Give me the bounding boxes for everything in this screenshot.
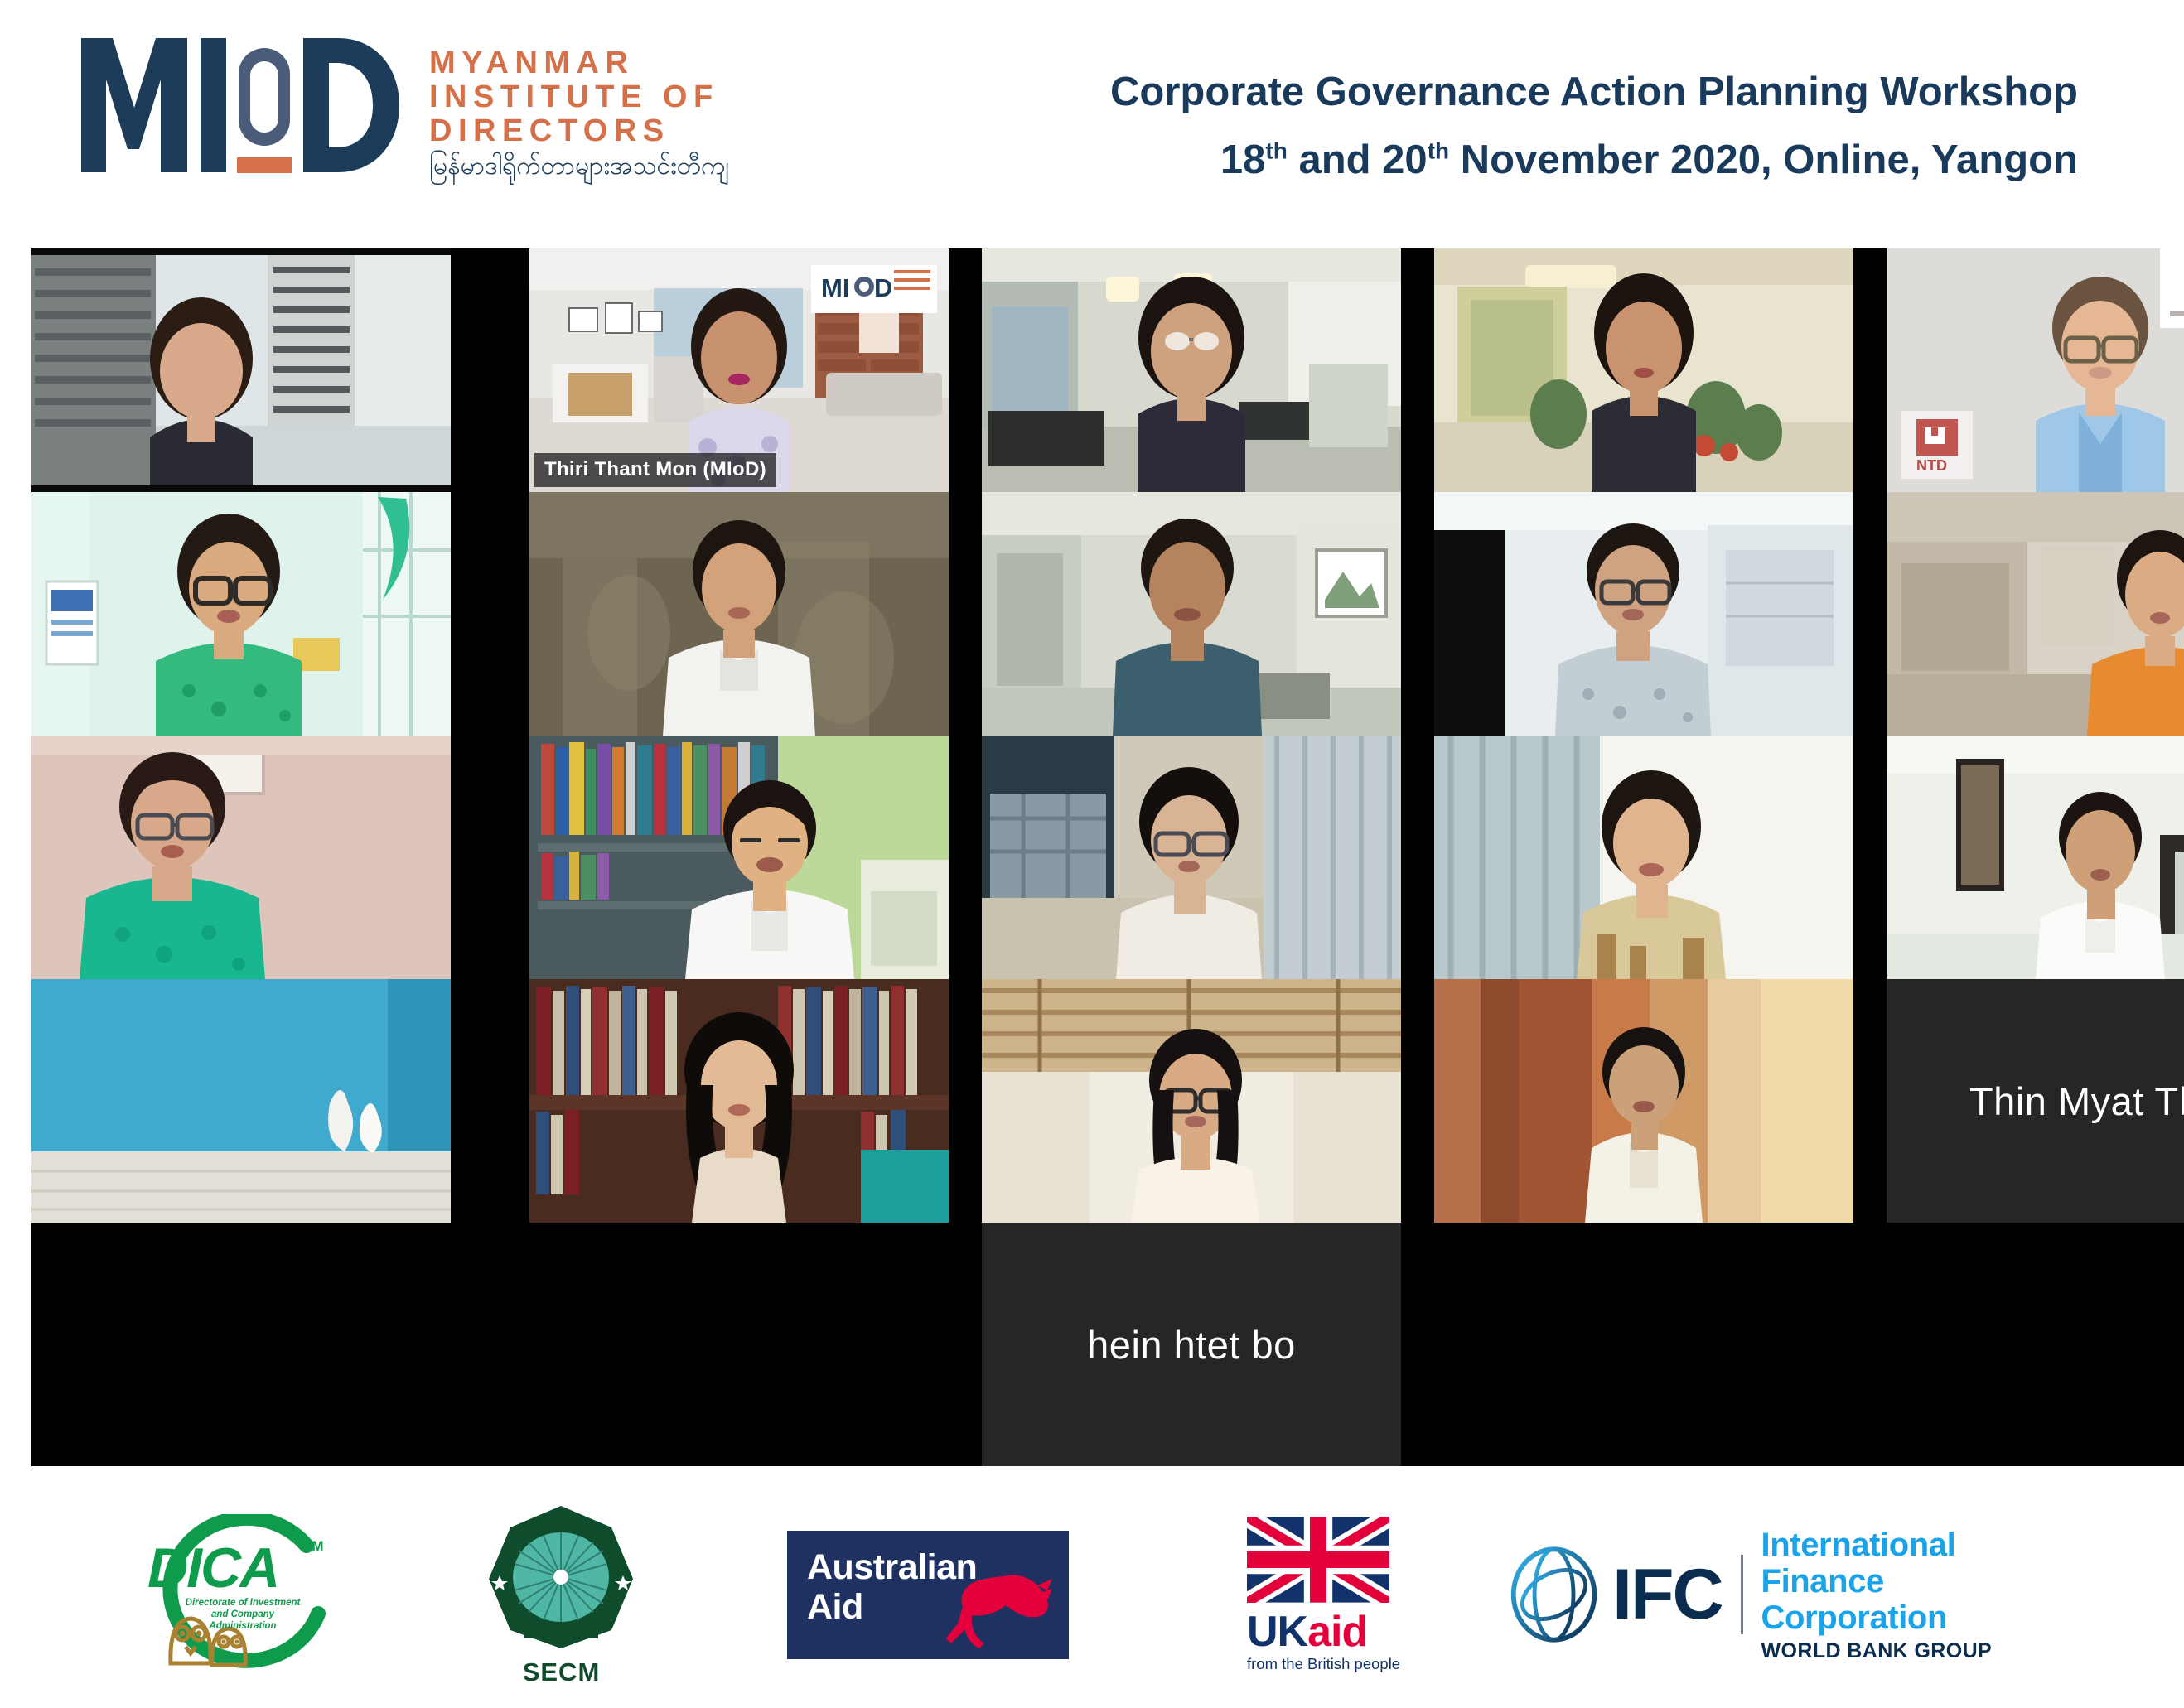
video-frame-image — [1434, 979, 1853, 1223]
workshop-date-line: 18th and 20th November 2020, Online, Yan… — [1110, 133, 2078, 187]
gallery-row-4: Thin Myat Thu — [31, 979, 2146, 1223]
miod-org-burmese: မြန်မာဒါရိုက်တာများအသင်းတီကျ — [429, 151, 729, 182]
video-frame-image — [982, 248, 1401, 492]
participant-tile[interactable] — [31, 492, 451, 736]
video-frame-image — [982, 979, 1401, 1223]
video-feed: NTD NTD — [1887, 248, 2184, 492]
participant-tile[interactable] — [31, 248, 451, 492]
ifc-globe-icon — [1504, 1543, 1604, 1646]
video-frame-image — [31, 979, 451, 1223]
uk-aid-aid: aid — [1307, 1608, 1367, 1656]
video-frame-image — [982, 492, 1401, 736]
miod-logo: MYANMAR INSTITUTE OF DIRECTORS မြန်မာဒါရ… — [75, 31, 729, 185]
gallery-row-5: hein htet bo — [31, 1223, 2146, 1466]
union-jack-icon — [1247, 1517, 1389, 1603]
date-conjunction: and 20 — [1288, 138, 1428, 182]
workshop-title-block: Corporate Governance Action Planning Wor… — [1110, 65, 2078, 187]
dica-logo-icon: DICA TM — [133, 1514, 340, 1672]
uk-aid-tagline: from the British people — [1247, 1655, 1392, 1673]
uk-aid-uk: UK — [1247, 1608, 1307, 1656]
dica-logo: DICA TM Directorate of Investment and Co… — [133, 1514, 340, 1676]
video-feed — [1434, 492, 1853, 736]
ifc-divider — [1741, 1555, 1743, 1634]
miod-logo-text: MYANMAR INSTITUTE OF DIRECTORS မြန်မာဒါရ… — [429, 31, 729, 182]
video-frame-image — [1434, 248, 1853, 492]
uk-aid-logo: UKaid from the British people — [1247, 1517, 1392, 1673]
ifc-name-line-1: International — [1761, 1527, 2071, 1563]
kangaroo-icon — [926, 1564, 1059, 1652]
no-video-placeholder: Thin Myat Thu — [1887, 979, 2184, 1223]
participant-name-label: Thiri Thant Mon (MIoD) — [534, 453, 776, 487]
video-frame-image — [1887, 492, 2184, 736]
svg-text:DICA: DICA — [147, 1537, 278, 1599]
participant-tile[interactable] — [982, 979, 1401, 1223]
date-sup-2: th — [1428, 138, 1449, 164]
video-feed — [1434, 979, 1853, 1223]
no-video-placeholder: hein htet bo — [982, 1223, 1401, 1466]
miod-logo-mark — [75, 31, 406, 185]
uk-aid-wordmark: UKaid — [1247, 1610, 1392, 1653]
participant-tile[interactable] — [31, 736, 451, 979]
participant-display-name: hein htet bo — [1087, 1322, 1296, 1368]
svg-text:NTD: NTD — [1916, 457, 1947, 474]
secm-label: SECM — [472, 1657, 650, 1687]
participant-tile[interactable] — [529, 979, 949, 1223]
miod-org-line-1: MYANMAR — [429, 46, 729, 80]
video-feed — [1434, 736, 1853, 979]
video-feed — [982, 979, 1401, 1223]
secm-seal-icon — [472, 1503, 650, 1652]
participant-tile[interactable] — [982, 736, 1401, 979]
miod-wordmark-icon — [75, 31, 406, 185]
date-month-year-location: November 2020, Online, Yangon — [1449, 138, 2078, 182]
ifc-logo: IFC International Finance Corporation WO… — [1504, 1527, 2071, 1663]
australian-aid-logo: Australian Aid — [787, 1531, 1069, 1659]
video-frame-image — [31, 248, 451, 492]
slide-root: MYANMAR INSTITUTE OF DIRECTORS မြန်မာဒါရ… — [0, 0, 2184, 1708]
video-feed — [31, 979, 451, 1223]
participant-tile-no-video[interactable]: Thin Myat Thu — [1887, 979, 2184, 1223]
participant-tile[interactable] — [982, 248, 1401, 492]
video-feed — [31, 492, 451, 736]
dica-tagline: Directorate of Investment and Company Ad… — [181, 1597, 305, 1632]
video-feed — [1887, 736, 2184, 979]
svg-text:TM: TM — [303, 1538, 324, 1554]
video-feed — [982, 492, 1401, 736]
video-frame-image — [529, 736, 949, 979]
video-frame-image — [1434, 492, 1853, 736]
video-feed — [1434, 248, 1853, 492]
gallery-row-3 — [31, 736, 2146, 979]
gallery-row-2 — [31, 492, 2146, 736]
video-feed — [529, 492, 949, 736]
video-feed — [529, 736, 949, 979]
participant-tile[interactable] — [982, 492, 1401, 736]
video-feed — [982, 736, 1401, 979]
video-gallery-grid: MI D Thiri Thant Mon (MIoD) — [31, 248, 2146, 1466]
video-frame-image — [31, 736, 451, 979]
video-feed — [31, 248, 451, 492]
participant-tile[interactable] — [529, 492, 949, 736]
miod-org-line-2: INSTITUTE OF — [429, 80, 729, 114]
participant-tile[interactable] — [1434, 979, 1853, 1223]
empty-tile — [31, 1223, 451, 1466]
video-frame-image — [982, 736, 1401, 979]
video-frame-image — [1887, 736, 2184, 979]
participant-tile[interactable] — [1887, 492, 2184, 736]
participant-tile-no-video[interactable]: hein htet bo — [982, 1223, 1401, 1466]
participant-tile[interactable] — [1434, 248, 1853, 492]
video-feed — [529, 979, 949, 1223]
workshop-title: Corporate Governance Action Planning Wor… — [1110, 65, 2078, 119]
participant-tile[interactable]: NTD NTD — [1887, 248, 2184, 492]
participant-tile[interactable] — [1434, 736, 1853, 979]
australian-aid-box: Australian Aid — [787, 1531, 1069, 1659]
empty-tile — [529, 1223, 949, 1466]
video-frame-image — [529, 492, 949, 736]
video-frame-image: NTD NTD — [1887, 248, 2184, 492]
sponsor-logo-bar: DICA TM Directorate of Investment and Co… — [0, 1491, 2184, 1708]
ifc-full-name-block: International Finance Corporation WORLD … — [1761, 1527, 2071, 1663]
video-feed — [1887, 492, 2184, 736]
video-feed — [982, 248, 1401, 492]
ifc-letters: IFC — [1612, 1559, 1723, 1630]
video-feed — [31, 736, 451, 979]
gallery-row-1: MI D Thiri Thant Mon (MIoD) — [31, 248, 2146, 492]
empty-tile — [1887, 1223, 2184, 1466]
participant-tile[interactable] — [31, 979, 451, 1223]
participant-tile[interactable] — [529, 736, 949, 979]
participant-tile-active-speaker[interactable]: MI D Thiri Thant Mon (MIoD) — [529, 248, 949, 492]
miod-org-line-3: DIRECTORS — [429, 114, 729, 148]
slide-header: MYANMAR INSTITUTE OF DIRECTORS မြန်မာဒါရ… — [0, 0, 2184, 240]
date-day-1: 18 — [1220, 138, 1266, 182]
participant-tile[interactable] — [1434, 492, 1853, 736]
video-frame-image — [529, 979, 949, 1223]
video-frame-image — [1434, 736, 1853, 979]
ifc-name-line-2: Finance Corporation — [1761, 1563, 2071, 1636]
participant-tile[interactable] — [1887, 736, 2184, 979]
svg-text:D: D — [874, 273, 892, 302]
secm-logo: SECM — [472, 1503, 650, 1687]
video-frame-image — [31, 492, 451, 736]
svg-text:MI: MI — [821, 273, 849, 302]
participant-display-name: Thin Myat Thu — [1969, 1078, 2184, 1124]
date-sup-1: th — [1265, 138, 1287, 164]
empty-tile — [1434, 1223, 1853, 1466]
ifc-world-bank-group: WORLD BANK GROUP — [1761, 1638, 2071, 1663]
